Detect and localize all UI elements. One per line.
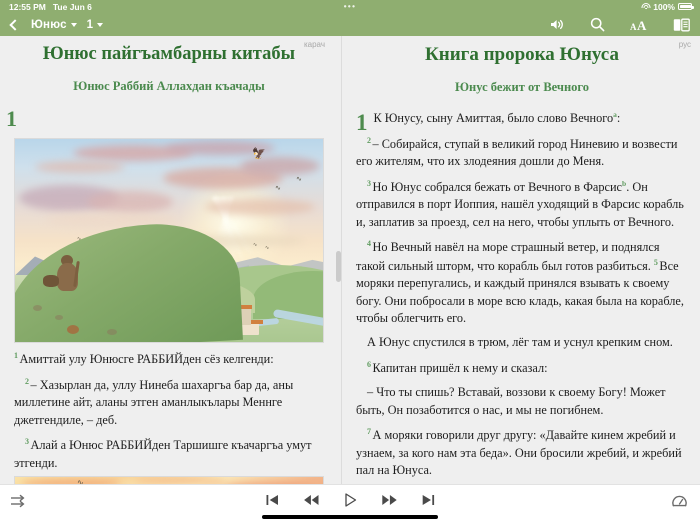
left-section-title: Юнюс Раббий Аллахдан къачады [0, 65, 338, 94]
verse-text: А Юнус спустился в трюм, лёг там и уснул… [367, 335, 673, 349]
right-page-russian[interactable]: рус Книга пророка Юнуса Юнус бежит от Ве… [344, 36, 700, 520]
verse-paragraph: А Юнус спустился в трюм, лёг там и уснул… [356, 334, 686, 351]
verse-tail: : [617, 111, 620, 125]
battery-full-icon [678, 3, 692, 10]
status-bar: 12:55 PM Tue Jun 6 ••• 100% [0, 0, 700, 13]
search-icon[interactable] [590, 17, 605, 32]
verse-text: К Юнусу, сыну Амиттая, было слово Вечног… [374, 111, 614, 125]
left-language-tag[interactable]: карач [301, 39, 328, 50]
verse-number: 2 [367, 136, 371, 145]
verse-number: 3 [367, 179, 371, 188]
status-left: 12:55 PM Tue Jun 6 [9, 2, 92, 12]
verse-text: А моряки говорили друг другу: «Давайте к… [356, 428, 682, 477]
verse-paragraph: 1Амиттай улу Юнюсге РАББИЙден сёз келген… [14, 350, 324, 369]
verse-paragraph: 1К Юнусу, сыну Амиттая, было слово Вечно… [356, 110, 686, 128]
verse-number: 2 [25, 377, 29, 386]
play-button[interactable] [342, 491, 359, 508]
caret-down-icon [97, 23, 103, 27]
verse-paragraph: 6Капитан пришёл к нему и сказал: [356, 359, 686, 378]
verse-number: 7 [367, 427, 371, 436]
verse-paragraph: 7А моряки говорили друг другу: «Давайте … [356, 426, 686, 479]
right-section-title: Юнус бежит от Вечного [344, 66, 700, 95]
verse-text: – Собирайся, ступай в великий город Нине… [356, 137, 677, 168]
verse-text: – Хазырлан да, уллу Нинеба шахаргъа бар … [14, 378, 293, 427]
navigation-bar: Юнюс 1 [0, 13, 700, 36]
chapter-number-label: 1 [87, 19, 94, 31]
left-chapter-number: 1 [0, 94, 338, 134]
rewind-button[interactable] [303, 491, 320, 508]
skip-to-start-button[interactable] [264, 491, 281, 508]
verse-paragraph: 2– Собирайся, ступай в великий город Нин… [356, 135, 686, 171]
right-chapter-number: 1 [356, 111, 368, 134]
transport-controls [264, 491, 437, 508]
right-verses[interactable]: 1К Юнусу, сыну Амиттая, было слово Вечно… [344, 95, 700, 520]
back-chevron-icon[interactable] [9, 19, 20, 30]
verse-number: 5 [654, 258, 658, 267]
nav-right-group: A A [550, 13, 690, 36]
verse-text: Капитан пришёл к нему и сказал: [373, 361, 548, 375]
left-illustration-1: 🦅 ∿ ∿ ∿ ∿ ∿ ∿ ∿ [14, 138, 324, 343]
status-time: 12:55 PM [9, 2, 46, 12]
left-book-title: Юнюс пайгъамбарны китабы [0, 36, 338, 65]
verse-number: 6 [367, 360, 371, 369]
book-selector[interactable]: Юнюс [31, 19, 77, 31]
verse-text: Амиттай улу Юнюсге РАББИЙден сёз келгенд… [20, 352, 274, 366]
status-right: 100% [641, 2, 692, 12]
home-indicator [262, 515, 438, 519]
chapter-selector[interactable]: 1 [87, 19, 104, 31]
pages-container: карач Юнюс пайгъамбарны китабы Юнюс Рабб… [0, 36, 700, 520]
bible-reader-app: 12:55 PM Tue Jun 6 ••• 100% Юнюс 1 [0, 0, 700, 525]
verse-number: 4 [367, 239, 371, 248]
verse-number: 1 [14, 351, 18, 360]
verse-paragraph: 2– Хазырлан да, уллу Нинеба шахаргъа бар… [14, 376, 324, 429]
right-language-tag[interactable]: рус [676, 39, 694, 50]
right-book-title: Книга пророка Юнуса [344, 36, 700, 66]
wifi-icon [641, 3, 650, 11]
fast-forward-button[interactable] [381, 491, 398, 508]
status-center-dots: ••• [344, 2, 357, 11]
skip-to-end-button[interactable] [420, 491, 437, 508]
verse-text: – Что ты спишь? Вставай, воззови к своем… [356, 385, 666, 416]
left-verses[interactable]: 1Амиттай улу Юнюсге РАББИЙден сёз келген… [0, 350, 338, 472]
bottom-toolbar [0, 484, 700, 525]
playback-speed-icon[interactable] [671, 493, 688, 515]
verse-text: Алай а Юнюс РАББИЙден Таршишге къачаргъа… [14, 438, 312, 469]
page-divider [341, 36, 342, 520]
reading-view-icon[interactable] [673, 18, 690, 32]
book-name-label: Юнюс [31, 19, 67, 31]
speaker-icon[interactable] [550, 18, 565, 31]
compare-arrows-icon[interactable] [10, 493, 27, 515]
verse-paragraph: 3Алай а Юнюс РАББИЙден Таршишге къачаргъ… [14, 436, 324, 472]
scrollbar-thumb[interactable] [336, 251, 341, 282]
verse-paragraph: 3Но Юнус собрался бежать от Вечного в Фа… [356, 178, 686, 231]
status-date: Tue Jun 6 [53, 2, 92, 12]
verse-text: Но Вечный навёл на море страшный ветер, … [356, 240, 660, 273]
verse-number: 3 [25, 437, 29, 446]
verse-text: Но Юнус собрался бежать от Вечного в Фар… [373, 180, 623, 194]
svg-text:A: A [637, 18, 647, 32]
verse-paragraph: 4Но Вечный навёл на море страшный ветер,… [356, 238, 686, 327]
verse-paragraph: – Что ты спишь? Вставай, воззови к своем… [356, 384, 686, 419]
caret-down-icon [71, 23, 77, 27]
nav-left-group: Юнюс 1 [11, 13, 103, 36]
text-size-icon[interactable]: A A [630, 18, 648, 32]
svg-text:A: A [630, 22, 637, 32]
battery-percent: 100% [653, 2, 675, 12]
left-page-karachay[interactable]: карач Юнюс пайгъамбарны китабы Юнюс Рабб… [0, 36, 338, 520]
